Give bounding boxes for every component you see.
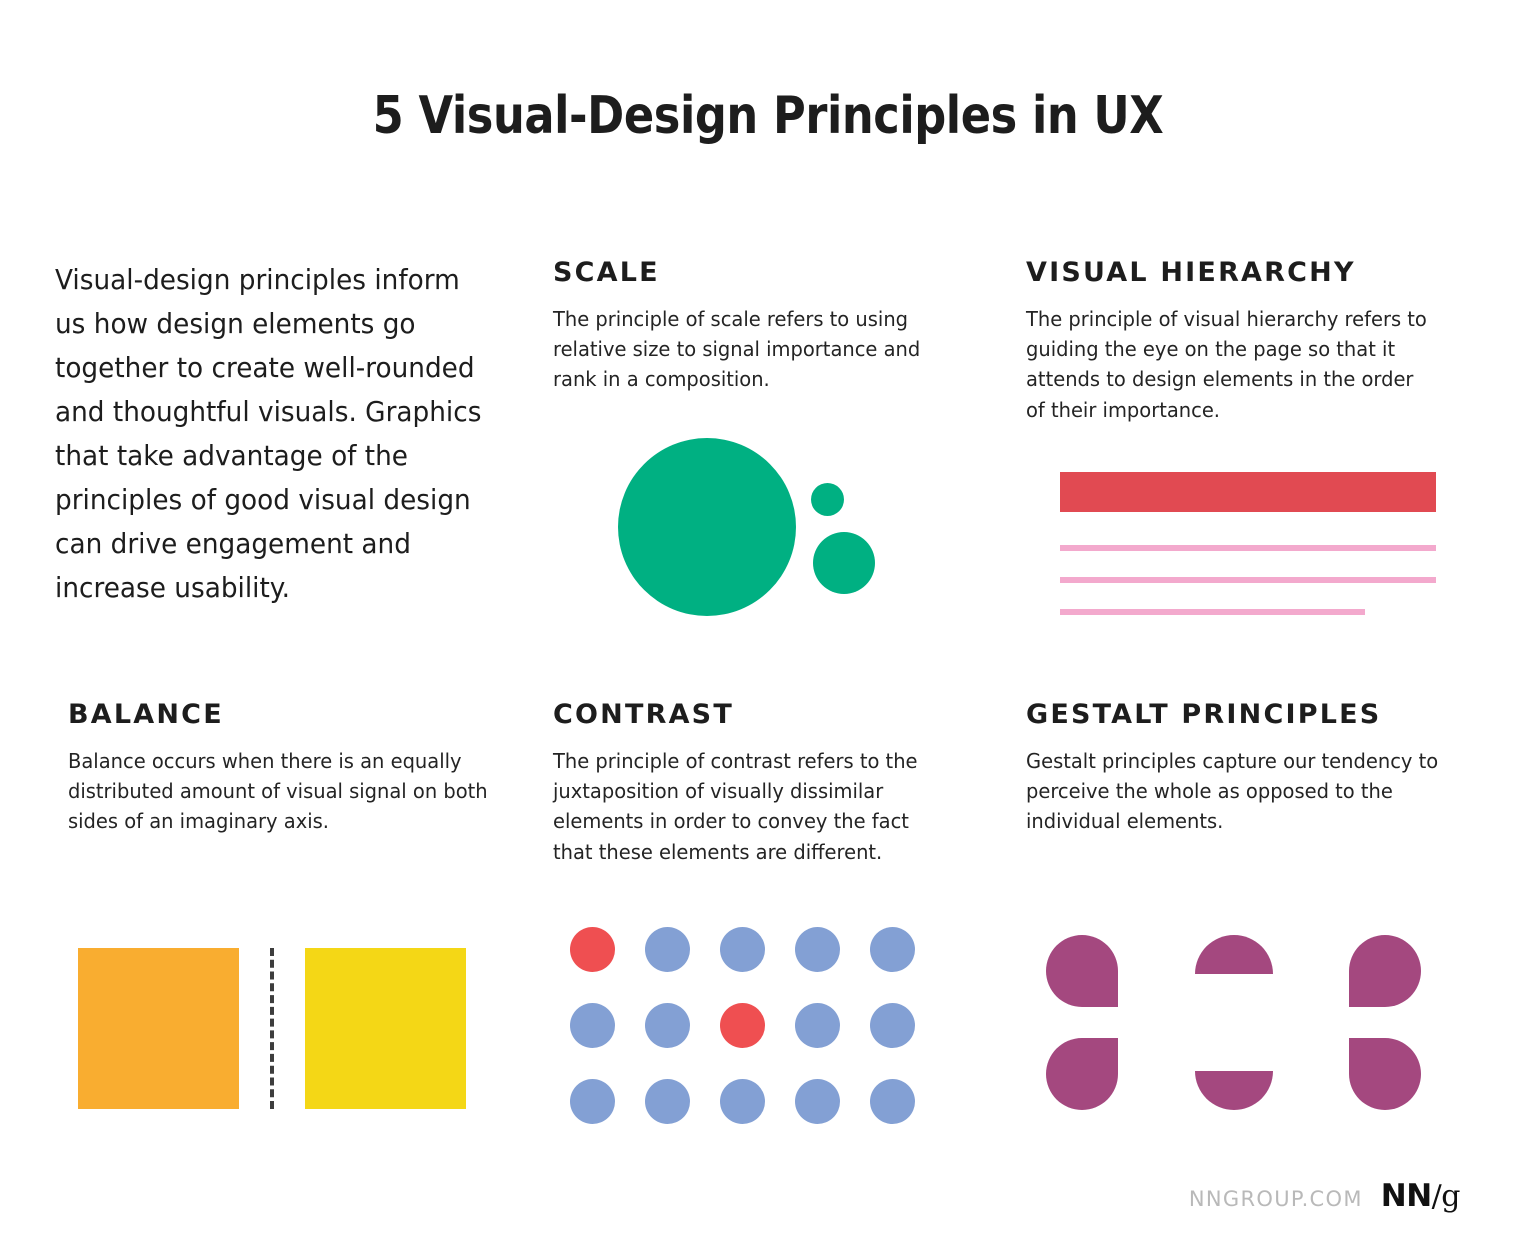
intro-paragraph: Visual-design principles inform us how d…	[55, 258, 483, 610]
secondary-line-3	[1060, 609, 1365, 615]
contrast-dot	[720, 1079, 765, 1124]
visual-hierarchy-graphic	[1060, 472, 1438, 622]
contrast-accent-dot	[720, 1003, 765, 1048]
contrast-heading: CONTRAST	[553, 700, 953, 730]
gestalt-body: Gestalt principles capture our tendency …	[1026, 746, 1439, 837]
section-balance: BALANCE Balance occurs when there is an …	[68, 700, 513, 837]
small-circle	[811, 483, 844, 516]
contrast-dot	[645, 927, 690, 972]
pacman-top-left-icon	[1046, 935, 1118, 1007]
scale-body: The principle of scale refers to using r…	[553, 304, 952, 395]
secondary-line-2	[1060, 577, 1436, 583]
footer-url: NNGROUP.COM	[1189, 1187, 1363, 1211]
section-contrast: CONTRAST The principle of contrast refer…	[553, 700, 953, 867]
section-scale: SCALE The principle of scale refers to u…	[553, 258, 973, 395]
footer: NNGROUP.COM NN/g	[1189, 1178, 1460, 1214]
pacman-bottom-right-icon	[1349, 1038, 1421, 1110]
page-title: 5 Visual-Design Principles in UX	[108, 86, 1429, 146]
pacman-bottom-left-icon	[1046, 1038, 1118, 1110]
balance-heading: BALANCE	[68, 700, 513, 730]
contrast-dot	[570, 1003, 615, 1048]
orange-square	[78, 948, 239, 1109]
pacman-top-right-icon	[1349, 935, 1421, 1007]
contrast-dot	[570, 1079, 615, 1124]
contrast-graphic	[570, 927, 915, 1127]
gestalt-heading: GESTALT PRINCIPLES	[1026, 700, 1461, 730]
yellow-square	[305, 948, 466, 1109]
scale-heading: SCALE	[553, 258, 973, 288]
contrast-dot	[795, 927, 840, 972]
contrast-body: The principle of contrast refers to the …	[553, 746, 933, 867]
balance-body: Balance occurs when there is an equally …	[68, 746, 491, 837]
balance-graphic	[78, 948, 473, 1110]
logo-nn: NN	[1381, 1178, 1432, 1214]
contrast-dot	[870, 1079, 915, 1124]
logo-slash: /	[1432, 1179, 1442, 1214]
contrast-dot-row	[570, 927, 915, 972]
contrast-dot	[645, 1003, 690, 1048]
visual-hierarchy-body: The principle of visual hierarchy refers…	[1026, 304, 1430, 425]
half-circle-bottom-icon	[1195, 1071, 1273, 1110]
section-gestalt-principles: GESTALT PRINCIPLES Gestalt principles ca…	[1026, 700, 1461, 837]
half-circle-top-icon	[1195, 935, 1273, 974]
contrast-dot	[870, 1003, 915, 1048]
large-circle	[618, 438, 796, 616]
contrast-dot-row	[570, 1079, 915, 1124]
contrast-dot	[795, 1003, 840, 1048]
contrast-dot	[795, 1079, 840, 1124]
medium-circle	[813, 532, 875, 594]
contrast-dot	[870, 927, 915, 972]
contrast-accent-dot	[570, 927, 615, 972]
emphasis-bar	[1060, 472, 1436, 512]
scale-graphic	[618, 438, 898, 623]
contrast-dot-row	[570, 1003, 915, 1048]
gestalt-graphic	[1046, 935, 1421, 1110]
intro-section: Visual-design principles inform us how d…	[55, 258, 510, 610]
visual-hierarchy-heading: VISUAL HIERARCHY	[1026, 258, 1451, 288]
contrast-dot	[720, 927, 765, 972]
nng-logo: NN/g	[1381, 1178, 1460, 1214]
dashed-axis-icon	[270, 948, 274, 1109]
logo-g: g	[1441, 1179, 1460, 1214]
contrast-dot	[645, 1079, 690, 1124]
secondary-line-1	[1060, 545, 1436, 551]
section-visual-hierarchy: VISUAL HIERARCHY The principle of visual…	[1026, 258, 1451, 425]
